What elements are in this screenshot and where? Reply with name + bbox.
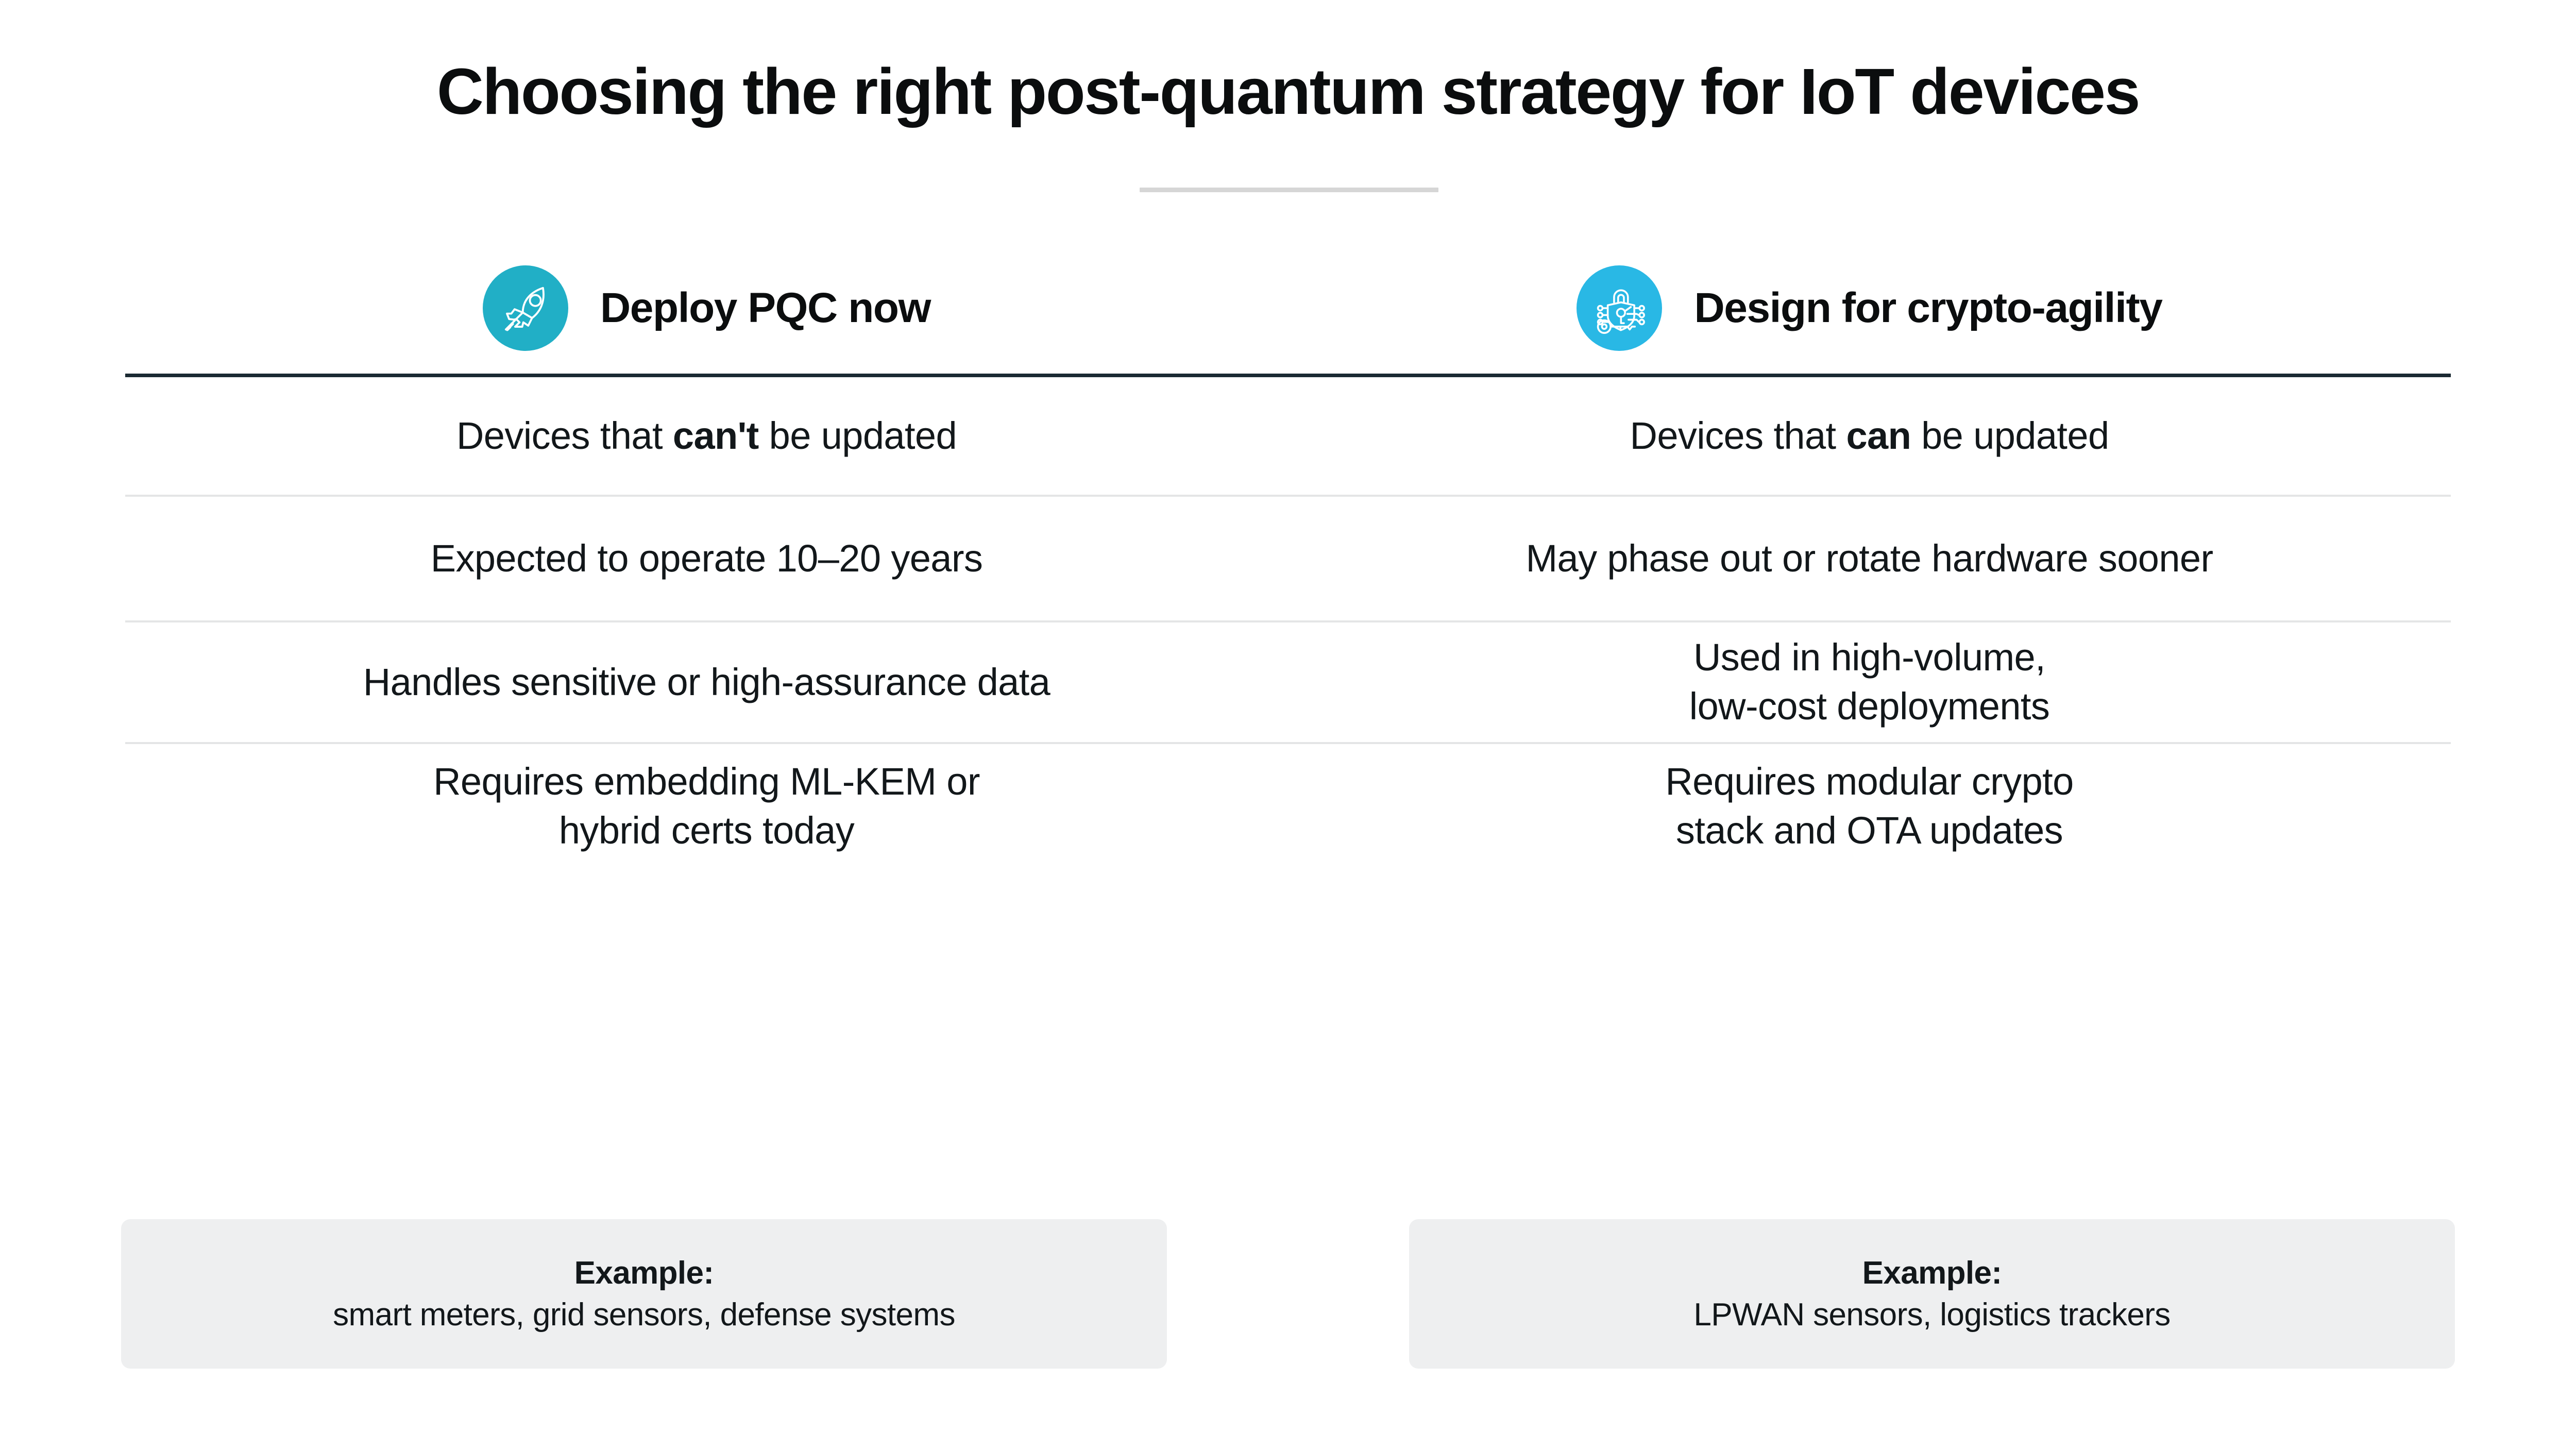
column-header-deploy-pqc-now: Deploy PQC now — [125, 242, 1288, 374]
table-cell-right: Devices that can be updated — [1288, 377, 2451, 495]
header-divider — [125, 374, 2451, 377]
column-header-design-for-crypto-agility: Design for crypto-agility — [1288, 242, 2451, 374]
cell-text: Expected to operate 10–20 years — [431, 534, 983, 583]
infographic-page: Choosing the right post-quantum strategy… — [0, 0, 2576, 1449]
table-row: Requires embedding ML-KEM or hybrid cert… — [125, 744, 2451, 869]
table-row: Handles sensitive or high-assurance data… — [125, 622, 2451, 742]
cell-text: Handles sensitive or high-assurance data — [363, 658, 1050, 707]
cell-text: May phase out or rotate hardware sooner — [1526, 534, 2213, 583]
example-body: LPWAN sensors, logistics trackers — [1693, 1296, 2170, 1333]
table-cell-left: Devices that can't be updated — [125, 377, 1288, 495]
cell-text: Requires embedding ML-KEM or hybrid cert… — [433, 757, 980, 855]
cell-text: Requires modular crypto stack and OTA up… — [1665, 757, 2073, 855]
column-header-label: Design for crypto-agility — [1694, 284, 2162, 332]
cell-text: Devices that can be updated — [1630, 412, 2109, 461]
title-accent-bar — [1140, 188, 1438, 192]
page-title: Choosing the right post-quantum strategy… — [0, 57, 2576, 127]
example-box-crypto-agility: Example: LPWAN sensors, logistics tracke… — [1409, 1219, 2455, 1369]
example-wrap-right: Example: LPWAN sensors, logistics tracke… — [1288, 1219, 2576, 1369]
table-column-headers: Deploy PQC now — [125, 242, 2451, 374]
rocket-icon — [483, 265, 568, 351]
example-box-deploy-pqc-now: Example: smart meters, grid sensors, def… — [121, 1219, 1167, 1369]
table-cell-right: Used in high-volume, low-cost deployment… — [1288, 622, 2451, 742]
cell-text-line: low-cost deployments — [1689, 682, 2050, 731]
title-block: Choosing the right post-quantum strategy… — [0, 57, 2576, 127]
example-title: Example: — [1862, 1255, 2002, 1291]
cell-text: Devices that can't be updated — [456, 412, 957, 461]
table-row: Expected to operate 10–20 years May phas… — [125, 497, 2451, 620]
example-body: smart meters, grid sensors, defense syst… — [333, 1296, 955, 1333]
table-row: Devices that can't be updated Devices th… — [125, 377, 2451, 495]
example-title: Example: — [574, 1255, 714, 1291]
column-header-label: Deploy PQC now — [600, 284, 930, 332]
table-cell-left: Expected to operate 10–20 years — [125, 497, 1288, 620]
table-cell-left: Handles sensitive or high-assurance data — [125, 622, 1288, 742]
comparison-table: Deploy PQC now — [125, 242, 2451, 869]
example-boxes: Example: smart meters, grid sensors, def… — [0, 1219, 2576, 1369]
crypto-shield-key-icon — [1577, 265, 1662, 351]
cell-text-line: Requires modular crypto — [1665, 757, 2073, 806]
table-cell-left: Requires embedding ML-KEM or hybrid cert… — [125, 744, 1288, 869]
table-cell-right: May phase out or rotate hardware sooner — [1288, 497, 2451, 620]
example-wrap-left: Example: smart meters, grid sensors, def… — [0, 1219, 1288, 1369]
cell-text-line: Used in high-volume, — [1689, 633, 2050, 682]
cell-text: Used in high-volume, low-cost deployment… — [1689, 633, 2050, 731]
cell-text-line: hybrid certs today — [433, 806, 980, 855]
table-cell-right: Requires modular crypto stack and OTA up… — [1288, 744, 2451, 869]
cell-text-line: Requires embedding ML-KEM or — [433, 757, 980, 806]
cell-text-line: stack and OTA updates — [1665, 806, 2073, 855]
